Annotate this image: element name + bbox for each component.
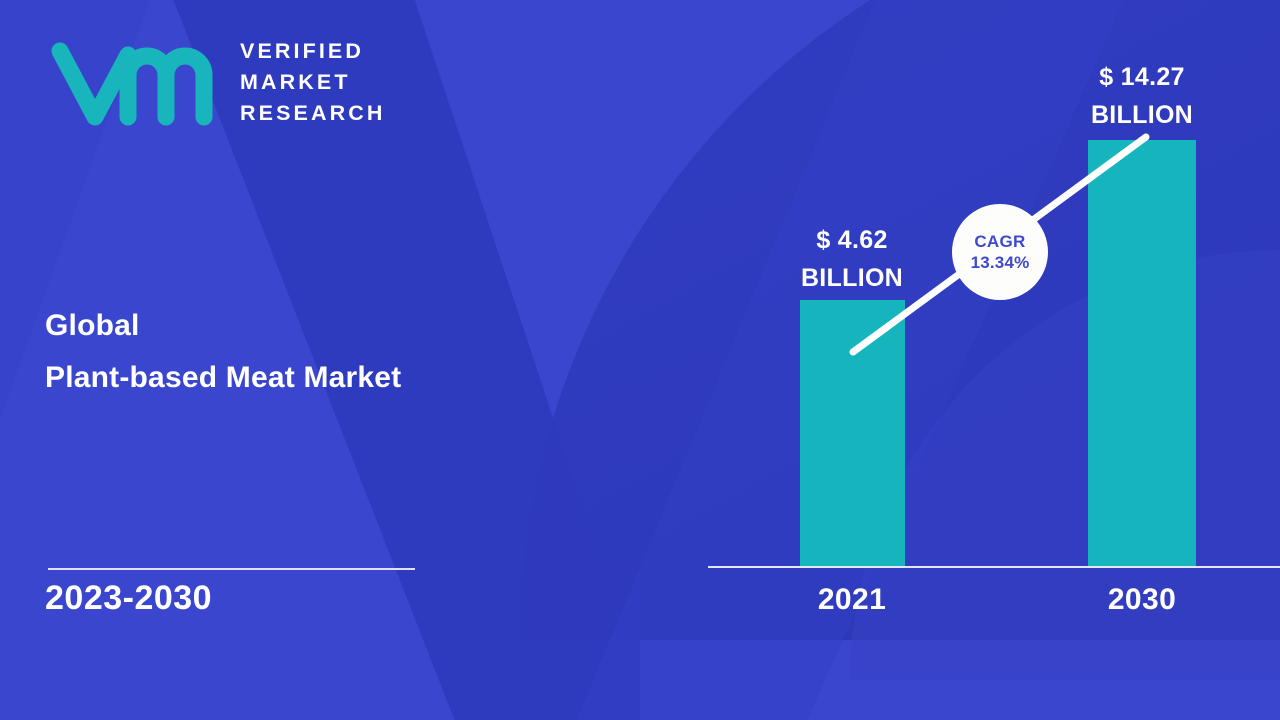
bar-category-2030: 2030 [1042,583,1242,617]
bar-value-2030-amount: $ 14.27 [1042,58,1242,96]
bar-value-2021-unit: BILLION [752,259,952,297]
bar-value-2021-amount: $ 4.62 [752,221,952,259]
bar-value-2021: $ 4.62 BILLION [752,221,952,297]
bar-value-2030: $ 14.27 BILLION [1042,58,1242,134]
bar-chart: $ 4.62 BILLION 2021 $ 14.27 BILLION 2030… [0,0,1280,720]
infographic-canvas: VERIFIED MARKET RESEARCH Global Plant-ba… [0,0,1280,720]
cagr-badge[interactable]: CAGR 13.34% [952,204,1048,300]
cagr-value: 13.34% [971,252,1030,273]
bar-2030[interactable] [1088,140,1196,566]
bar-value-2030-unit: BILLION [1042,96,1242,134]
bar-2021[interactable] [800,300,905,566]
cagr-label: CAGR [974,231,1025,252]
bar-category-2021: 2021 [752,583,952,617]
chart-axis-line [708,566,1280,568]
